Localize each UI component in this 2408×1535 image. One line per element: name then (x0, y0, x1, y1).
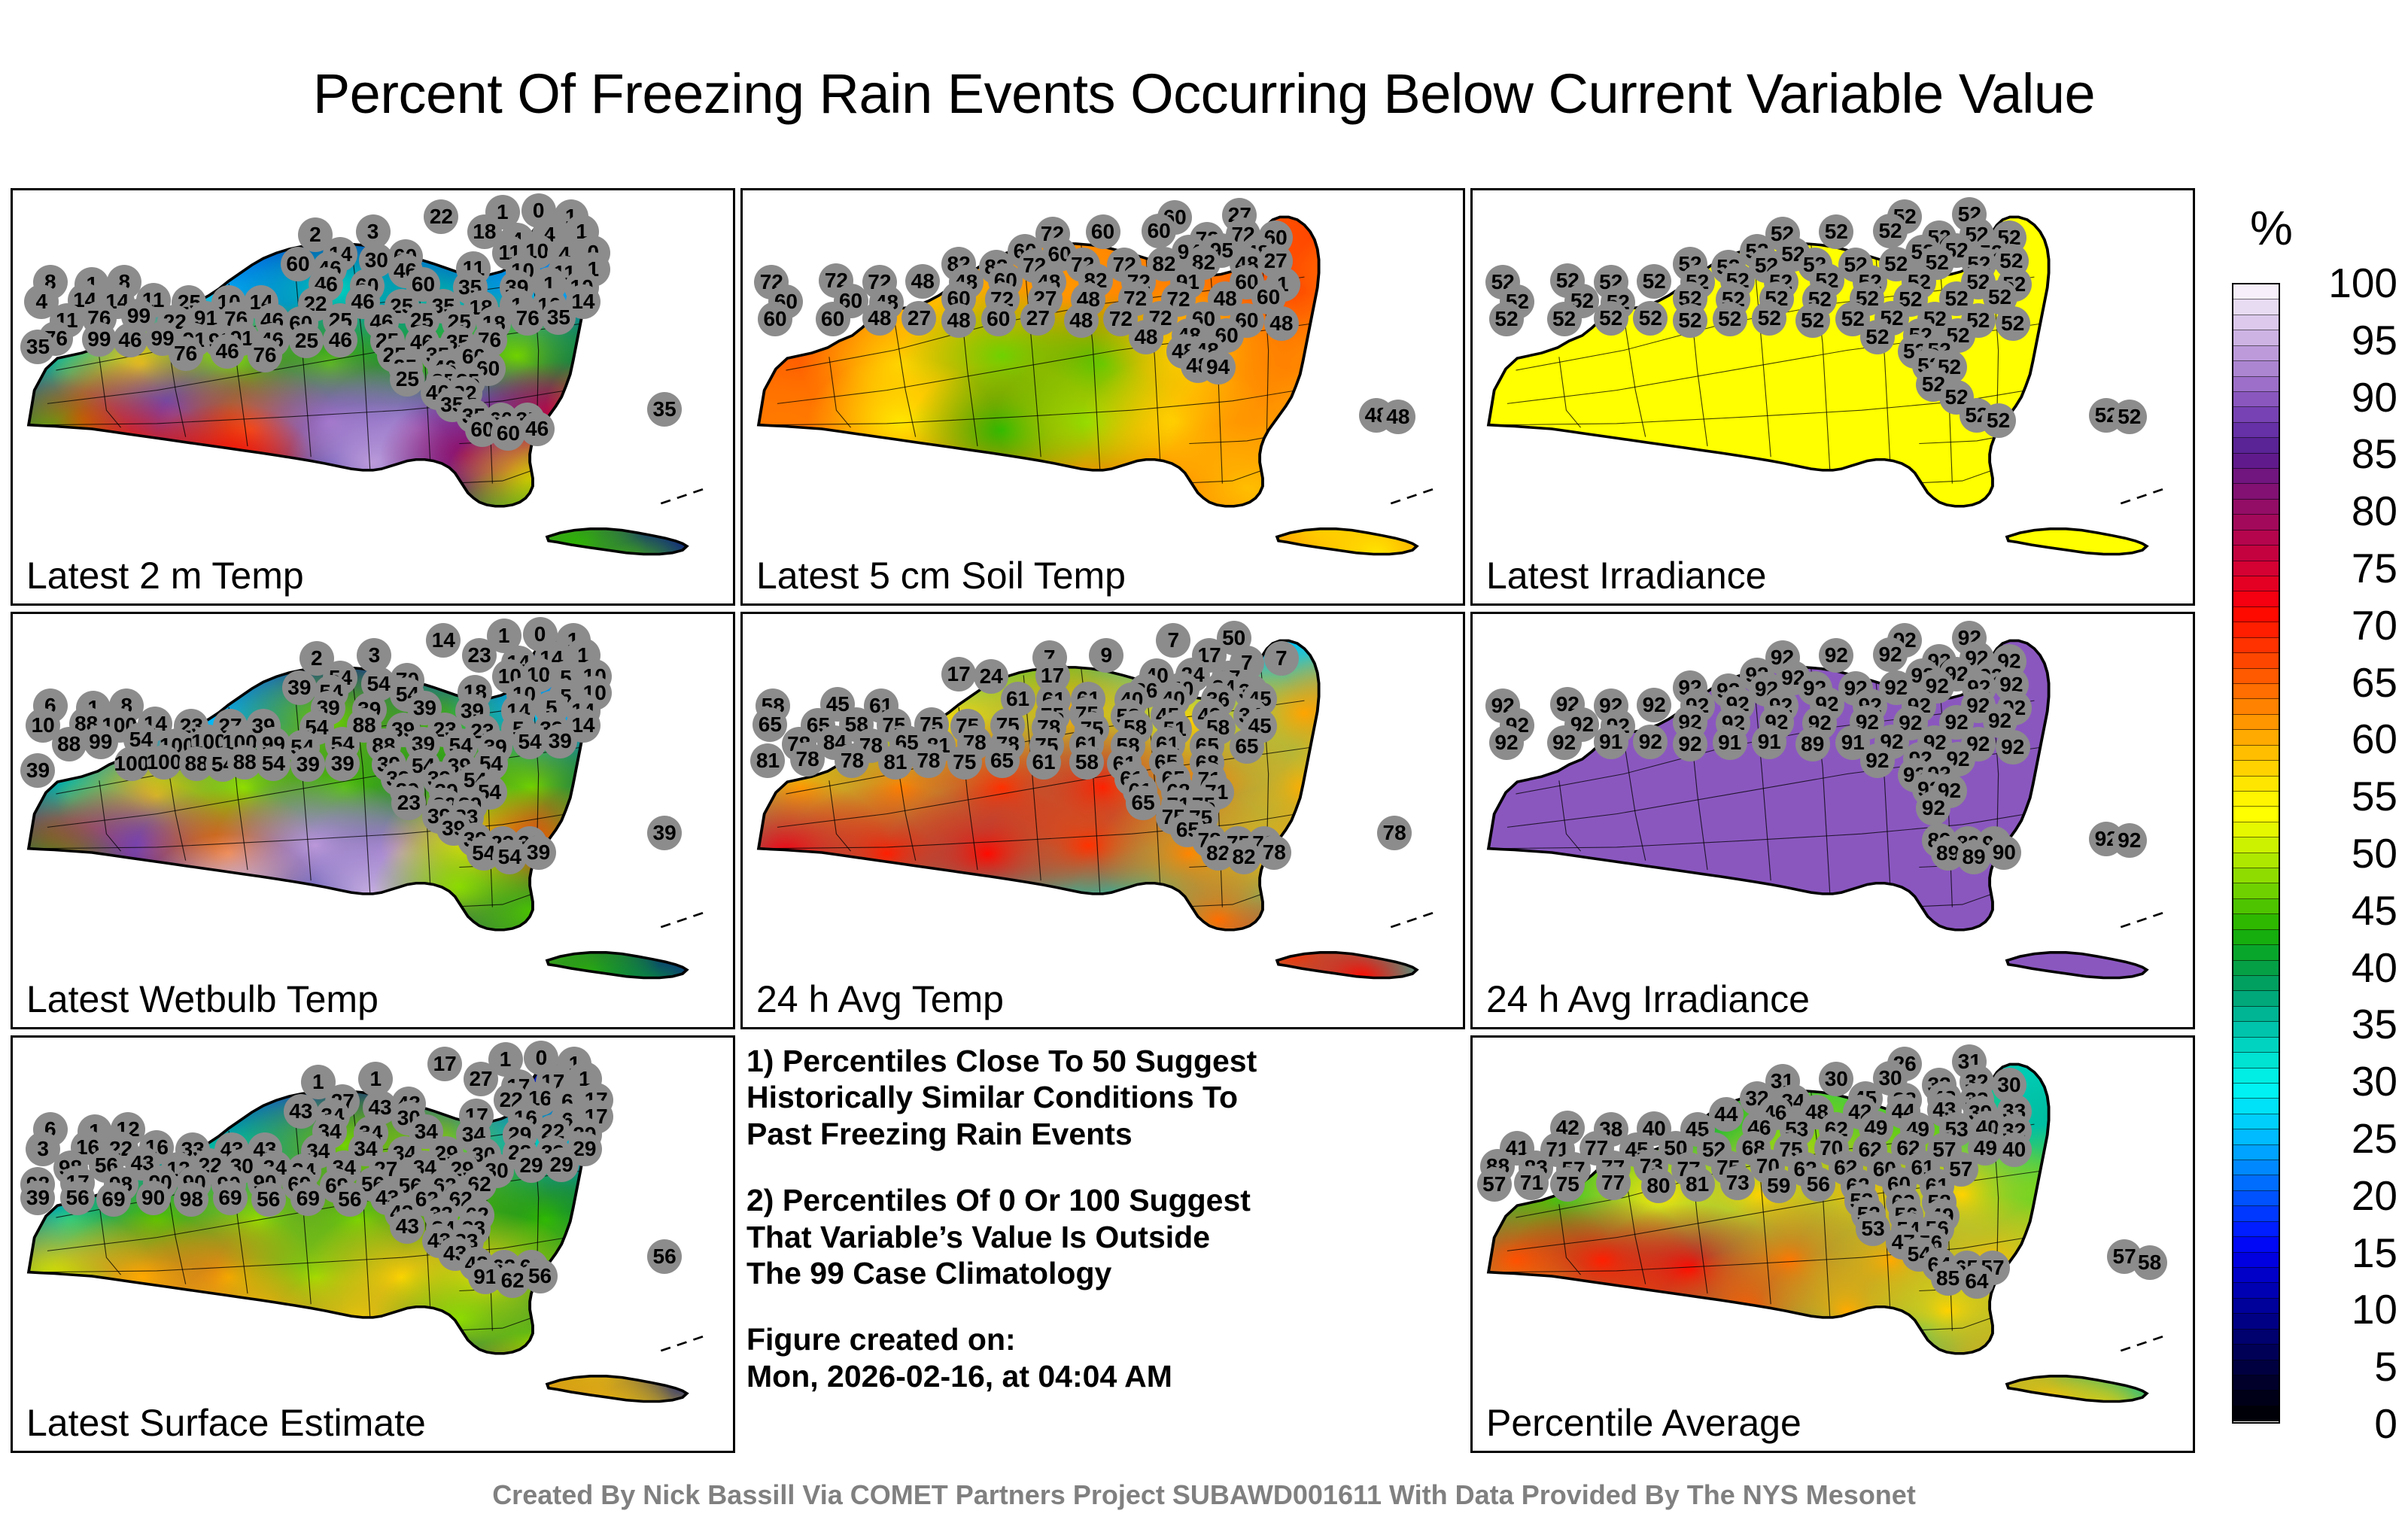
colorbar-tick-labels: 1009590858075706560555045403530252015105… (2285, 283, 2405, 1424)
map-panel-percentile-average[interactable]: 2631313030333230323445384232444648424443… (1470, 1035, 2195, 1453)
station-marker[interactable]: 76 (248, 338, 282, 372)
colorbar-segment (2233, 361, 2279, 376)
colorbar-segment (2233, 392, 2279, 407)
station-marker[interactable]: 52 (1637, 264, 1671, 299)
station-marker[interactable]: 60 (981, 302, 1016, 336)
colorbar-segment (2233, 746, 2279, 761)
note-paragraph-3: Figure created on:Mon, 2026-02-16, at 04… (746, 1321, 1454, 1394)
station-marker[interactable]: 39 (325, 746, 360, 781)
map-svg (1473, 190, 2193, 603)
station-marker[interactable]: 48 (905, 264, 940, 299)
station-marker[interactable]: 52 (1981, 403, 2016, 438)
colorbar-segment (2233, 1160, 2279, 1175)
station-marker[interactable]: 58 (1069, 745, 1104, 780)
station-marker[interactable]: 46 (520, 412, 555, 446)
station-marker[interactable]: 35 (20, 330, 55, 364)
colorbar-segment (2233, 730, 2279, 745)
station-marker[interactable]: 78 (911, 743, 946, 778)
note-line-2-1: 2) Percentiles Of 0 Or 100 Suggest (746, 1182, 1454, 1218)
station-marker[interactable]: 75 (1550, 1167, 1585, 1202)
colorbar-tick-20: 20 (2285, 1172, 2397, 1220)
station-marker[interactable]: 39 (521, 835, 556, 870)
station-marker[interactable]: 76 (169, 336, 203, 371)
station-marker[interactable]: 78 (1377, 816, 1412, 850)
colorbar-segment (2233, 976, 2279, 991)
colorbar-segment (2233, 930, 2279, 945)
station-marker[interactable]: 91 (1594, 725, 1628, 759)
colorbar-segment (2233, 622, 2279, 637)
colorbar-tick-15: 15 (2285, 1229, 2397, 1277)
colorbar-segment (2233, 546, 2279, 561)
station-marker[interactable]: 39 (282, 670, 317, 705)
colorbar-tick-5: 5 (2285, 1342, 2397, 1391)
station-marker[interactable]: 60 (1142, 214, 1176, 248)
colorbar-segment (2233, 1391, 2279, 1406)
panel-label-latest-2m-temp: Latest 2 m Temp (26, 554, 304, 597)
panel-label-24h-avg-irradiance: 24 h Avg Irradiance (1486, 977, 1810, 1021)
note-line-3-1: Figure created on: (746, 1321, 1454, 1357)
station-marker[interactable]: 14 (426, 623, 461, 658)
note-line-1-1: 1) Percentiles Close To 50 Suggest (746, 1043, 1454, 1079)
station-marker[interactable]: 29 (544, 1147, 579, 1182)
station-marker[interactable]: 56 (523, 1259, 558, 1293)
colorbar-tick-45: 45 (2285, 886, 2397, 935)
footer-credit: Created By Nick Bassill Via COMET Partne… (0, 1479, 2408, 1511)
station-marker[interactable]: 22 (424, 199, 458, 234)
station-marker[interactable]: 7 (1156, 623, 1190, 658)
colorbar-segment (2233, 792, 2279, 807)
panel-label-latest-irradiance: Latest Irradiance (1486, 554, 1766, 597)
colorbar-segment (2233, 1022, 2279, 1037)
colorbar-segment (2233, 1222, 2279, 1237)
station-marker[interactable]: 88 (52, 727, 87, 761)
station-marker[interactable]: 39 (20, 753, 55, 788)
colorbar-segment (2233, 777, 2279, 792)
station-marker[interactable]: 52 (1860, 320, 1895, 354)
colorbar-segment (2233, 1237, 2279, 1252)
station-marker[interactable]: 65 (1230, 729, 1264, 764)
page-title: Percent Of Freezing Rain Events Occurrin… (0, 62, 2408, 126)
station-marker[interactable]: 92 (1637, 688, 1671, 722)
station-marker[interactable]: 89 (1956, 840, 1991, 874)
colorbar-segment (2233, 454, 2279, 469)
map-svg (743, 614, 1463, 1027)
note-line-3-2: Mon, 2026-02-16, at 04:04 AM (746, 1358, 1454, 1394)
station-marker[interactable]: 94 (1201, 350, 1236, 385)
station-marker[interactable]: 52 (1713, 302, 1747, 336)
station-marker[interactable]: 99 (82, 322, 117, 357)
colorbar-segment (2233, 868, 2279, 883)
panel-label-percentile-average: Percentile Average (1486, 1401, 1801, 1445)
station-marker[interactable]: 52 (1594, 301, 1628, 336)
colorbar-segment (2233, 561, 2279, 576)
station-marker[interactable]: 75 (947, 745, 982, 780)
colorbar-segment (2233, 438, 2279, 453)
colorbar-segment (2233, 945, 2279, 960)
colorbar-segment (2233, 1360, 2279, 1375)
colorbar-segment (2233, 1406, 2279, 1421)
colorbar-segment (2233, 1314, 2279, 1329)
colorbar-segment (2233, 684, 2279, 699)
colorbar-tick-70: 70 (2285, 601, 2397, 649)
station-marker[interactable]: 17 (427, 1047, 462, 1081)
station-marker[interactable]: 52 (1673, 303, 1707, 338)
colorbar-tick-100: 100 (2285, 259, 2397, 307)
map-canvas-1: 6027726060727260606094954882827272728282… (743, 190, 1463, 603)
colorbar-segment (2233, 853, 2279, 868)
station-marker[interactable]: 100 (147, 745, 181, 780)
colorbar-tick-75: 75 (2285, 544, 2397, 592)
station-marker[interactable]: 29 (514, 1148, 549, 1183)
colorbar-segment (2233, 669, 2279, 684)
map-canvas-5: 9292929292929292929292929292929292929292… (1473, 614, 2193, 1027)
colorbar-segment (2233, 591, 2279, 606)
station-marker[interactable]: 92 (2112, 823, 2147, 858)
station-marker[interactable]: 52 (1795, 303, 1830, 338)
map-canvas-2: 5252525252525252525252525252525252525252… (1473, 190, 2193, 603)
station-marker[interactable]: 52 (1873, 214, 1908, 248)
colorbar-segment (2233, 899, 2279, 914)
colorbar-segment (2233, 653, 2279, 668)
colorbar-segment (2233, 299, 2279, 315)
colorbar-tick-85: 85 (2285, 430, 2397, 478)
station-marker[interactable]: 23 (462, 638, 497, 673)
colorbar-tick-55: 55 (2285, 772, 2397, 820)
colorbar-segment (2233, 961, 2279, 976)
colorbar-segment (2233, 883, 2279, 898)
station-marker[interactable]: 56 (251, 1182, 286, 1217)
station-marker[interactable]: 58 (2133, 1245, 2167, 1280)
map-svg (1473, 614, 2193, 1027)
colorbar-segment (2233, 1268, 2279, 1283)
station-marker[interactable]: 9 (1089, 638, 1123, 673)
colorbar-segment (2233, 1345, 2279, 1360)
station-marker[interactable]: 56 (333, 1182, 367, 1217)
colorbar-segment (2233, 576, 2279, 591)
map-canvas-7: 2631313030333230323445384232444648424443… (1473, 1038, 2193, 1451)
station-marker[interactable]: 92 (1547, 725, 1582, 760)
colorbar-segment (2233, 699, 2279, 714)
station-marker[interactable]: 27 (464, 1062, 498, 1096)
colorbar-tick-80: 80 (2285, 487, 2397, 535)
colorbar-tick-65: 65 (2285, 658, 2397, 707)
map-panel-latest-5cm-soil-temp[interactable]: 6027726060727260606094954882827272728282… (740, 188, 1465, 606)
station-marker[interactable]: 17 (941, 657, 976, 692)
colorbar: % 10095908580757065605550454035302520151… (2227, 188, 2408, 1460)
panel-label-24h-avg-temp: 24 h Avg Temp (756, 977, 1004, 1021)
map-svg (743, 190, 1463, 603)
colorbar-segment (2233, 330, 2279, 345)
colorbar-tick-60: 60 (2285, 715, 2397, 763)
station-marker[interactable]: 61 (1026, 745, 1061, 780)
explanatory-notes: 1) Percentiles Close To 50 SuggestHistor… (746, 1043, 1454, 1394)
colorbar-tick-50: 50 (2285, 829, 2397, 877)
station-marker[interactable]: 90 (136, 1181, 171, 1215)
note-paragraph-1: 1) Percentiles Close To 50 SuggestHistor… (746, 1043, 1454, 1152)
colorbar-segment (2233, 315, 2279, 330)
station-marker[interactable]: 39 (647, 816, 682, 850)
colorbar-segment (2233, 991, 2279, 1006)
station-marker[interactable]: 48 (1381, 400, 1415, 434)
panel-label-latest-5cm-soil-temp: Latest 5 cm Soil Temp (756, 554, 1126, 597)
colorbar-segment (2233, 761, 2279, 776)
colorbar-segment (2233, 1053, 2279, 1068)
colorbar-segment (2233, 423, 2279, 438)
colorbar-tick-95: 95 (2285, 316, 2397, 364)
map-panel-24h-avg-temp[interactable]: 7507917771724174024173640243161616140403… (740, 612, 1465, 1029)
station-marker[interactable]: 69 (96, 1182, 131, 1217)
map-panel-latest-surface-estimate[interactable]: 1710111271717122166172743434334301716617… (11, 1035, 735, 1453)
station-marker[interactable]: 82 (1227, 840, 1261, 874)
colorbar-segment (2233, 1114, 2279, 1129)
station-marker[interactable]: 48 (1129, 320, 1163, 354)
colorbar-segment (2233, 1007, 2279, 1022)
station-marker[interactable]: 59 (1762, 1169, 1796, 1203)
colorbar-segment (2233, 530, 2279, 546)
colorbar-segment (2233, 284, 2279, 299)
station-marker[interactable]: 30 (1819, 1062, 1853, 1096)
station-marker[interactable]: 52 (1996, 306, 2030, 341)
station-marker[interactable]: 48 (941, 303, 976, 338)
note-line-1-2: Historically Similar Conditions To (746, 1079, 1454, 1115)
colorbar-segment (2233, 1084, 2279, 1099)
station-marker[interactable]: 43 (284, 1094, 318, 1129)
colorbar-segment (2233, 1099, 2279, 1114)
colorbar-segment (2233, 1206, 2279, 1221)
station-marker[interactable]: 69 (213, 1181, 248, 1215)
colorbar-segment (2233, 1191, 2279, 1206)
colorbar-segment (2233, 1330, 2279, 1345)
colorbar-tick-40: 40 (2285, 944, 2397, 992)
station-marker[interactable]: 92 (1996, 730, 2030, 764)
note-paragraph-2: 2) Percentiles Of 0 Or 100 SuggestThat V… (746, 1182, 1454, 1291)
station-marker[interactable]: 64 (1960, 1264, 1994, 1299)
colorbar-segment (2233, 1375, 2279, 1391)
station-marker[interactable]: 91 (1713, 725, 1747, 760)
colorbar-gradient (2232, 283, 2280, 1424)
station-marker[interactable]: 80 (1641, 1169, 1676, 1203)
colorbar-tick-10: 10 (2285, 1285, 2397, 1333)
note-line-1-3: Past Freezing Rain Events (746, 1116, 1454, 1152)
colorbar-segment (2233, 715, 2279, 730)
map-canvas-3: 1410123231414110105105454703954541810510… (13, 614, 733, 1027)
station-marker[interactable]: 52 (1547, 302, 1582, 336)
station-marker[interactable]: 65 (985, 743, 1020, 778)
station-marker[interactable]: 46 (113, 323, 147, 357)
station-marker[interactable]: 7 (1264, 641, 1299, 676)
map-panel-24h-avg-irradiance[interactable]: 9292929292929292929292929292929292929292… (1470, 612, 2195, 1029)
colorbar-segment (2233, 607, 2279, 622)
station-marker[interactable]: 60 (1086, 214, 1120, 249)
explanatory-notes-panel: 1) Percentiles Close To 50 SuggestHistor… (740, 1035, 1465, 1453)
station-marker[interactable]: 92 (1819, 638, 1853, 673)
station-marker[interactable]: 48 (862, 301, 897, 336)
station-marker[interactable]: 48 (1264, 306, 1299, 341)
colorbar-tick-35: 35 (2285, 1000, 2397, 1048)
map-panel-latest-wetbulb-temp[interactable]: 1410123231414110105105454703954541810510… (11, 612, 735, 1029)
colorbar-segment (2233, 1253, 2279, 1268)
map-svg (1473, 1038, 2193, 1451)
colorbar-tick-0: 0 (2285, 1400, 2397, 1448)
station-marker[interactable]: 81 (1680, 1167, 1715, 1202)
colorbar-unit-label: % (2250, 200, 2293, 256)
colorbar-segment (2233, 1175, 2279, 1190)
station-marker[interactable]: 52 (1489, 302, 1524, 336)
colorbar-segment (2233, 484, 2279, 499)
note-line-2-3: The 99 Case Climatology (746, 1255, 1454, 1291)
station-marker[interactable]: 89 (1795, 727, 1830, 761)
map-panel-latest-2m-temp[interactable]: 2210123184411110401430606046461110111818… (11, 188, 735, 606)
station-marker[interactable]: 46 (323, 323, 357, 357)
station-marker[interactable]: 92 (1673, 727, 1707, 761)
map-canvas-0: 2210123184411110401430606046461110111818… (13, 190, 733, 603)
colorbar-tick-30: 30 (2285, 1057, 2397, 1105)
station-marker[interactable]: 77 (1596, 1166, 1631, 1200)
colorbar-segment (2233, 1145, 2279, 1160)
colorbar-tick-25: 25 (2285, 1114, 2397, 1163)
station-marker[interactable]: 99 (84, 725, 118, 759)
colorbar-segment (2233, 469, 2279, 484)
colorbar-segment (2233, 1283, 2279, 1298)
colorbar-segment (2233, 377, 2279, 392)
station-marker[interactable]: 35 (647, 392, 682, 427)
colorbar-segment (2233, 1068, 2279, 1084)
station-marker[interactable]: 54 (256, 746, 290, 781)
map-panel-latest-irradiance[interactable]: 5252525252525252525252525252525252525252… (1470, 188, 2195, 606)
station-marker[interactable]: 53 (1856, 1211, 1890, 1246)
colorbar-segment (2233, 515, 2279, 530)
colorbar-segment (2233, 914, 2279, 929)
station-marker[interactable]: 40 (1997, 1132, 2032, 1167)
station-marker[interactable]: 100 (114, 746, 149, 781)
station-marker[interactable]: 52 (2112, 400, 2147, 434)
station-marker[interactable]: 56 (1801, 1167, 1835, 1202)
panel-grid: 2210123184411110401430606046461110111818… (11, 188, 2200, 1460)
colorbar-segment (2233, 1038, 2279, 1053)
station-marker[interactable]: 60 (816, 302, 850, 336)
note-line-2-2: That Variable’s Value Is Outside (746, 1219, 1454, 1255)
colorbar-segment (2233, 638, 2279, 653)
colorbar-segment (2233, 822, 2279, 837)
map-canvas-6: 1710111271717122166172743434334301716617… (13, 1038, 733, 1451)
station-marker[interactable]: 46 (210, 334, 245, 369)
colorbar-segment (2233, 1299, 2279, 1314)
station-marker[interactable]: 92 (1860, 743, 1895, 778)
colorbar-segment (2233, 807, 2279, 822)
station-marker[interactable]: 81 (878, 745, 913, 780)
colorbar-segment (2233, 407, 2279, 422)
map-canvas-4: 7507917771724174024173640243161616140403… (743, 614, 1463, 1027)
station-marker[interactable]: 54 (512, 725, 547, 759)
colorbar-segment (2233, 837, 2279, 853)
panel-label-latest-surface-estimate: Latest Surface Estimate (26, 1401, 426, 1445)
colorbar-segment (2233, 346, 2279, 361)
station-marker[interactable]: 57 (1477, 1167, 1512, 1202)
station-marker[interactable]: 92 (1873, 637, 1908, 672)
station-marker[interactable]: 52 (1819, 214, 1853, 249)
colorbar-segment (2233, 1129, 2279, 1144)
station-marker[interactable]: 92 (1489, 725, 1524, 760)
colorbar-segment (2233, 500, 2279, 515)
station-marker[interactable]: 56 (647, 1239, 682, 1274)
station-marker[interactable]: 48 (1064, 303, 1099, 338)
panel-label-latest-wetbulb-temp: Latest Wetbulb Temp (26, 977, 379, 1021)
colorbar-tick-90: 90 (2285, 373, 2397, 421)
station-marker[interactable]: 56 (60, 1181, 95, 1215)
